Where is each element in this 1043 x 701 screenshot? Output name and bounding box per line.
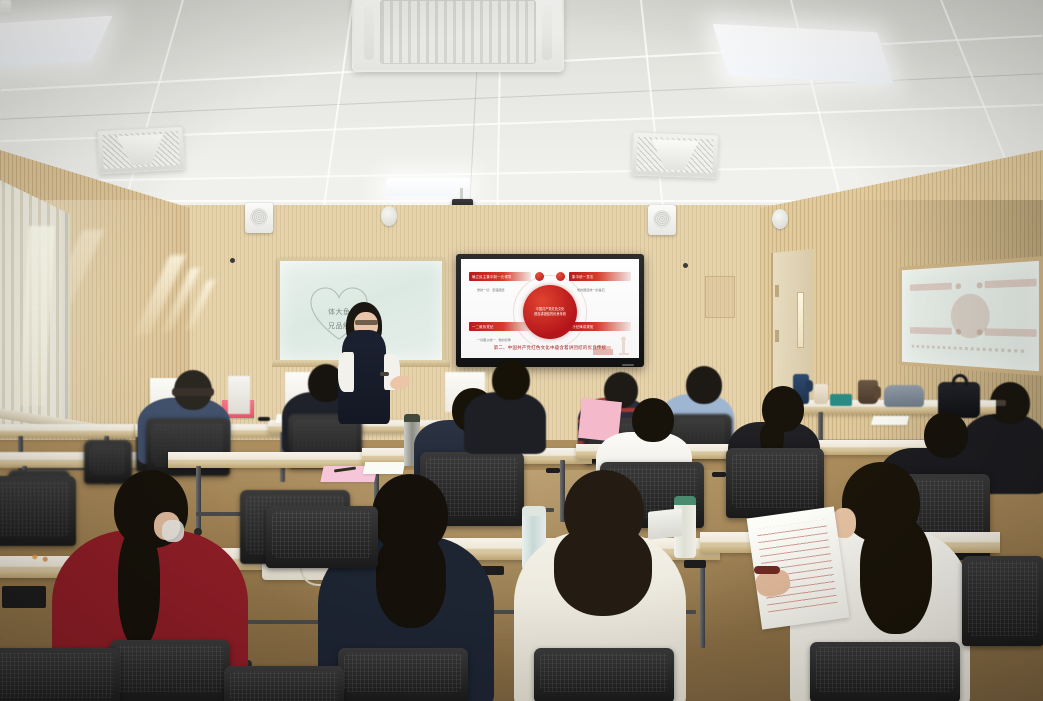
bracelet <box>754 566 780 574</box>
kettle-handle <box>806 380 813 392</box>
thermos-lid <box>404 414 420 422</box>
wristwatch <box>380 372 389 376</box>
mobile-phone[interactable] <box>684 560 706 568</box>
mobile-phone[interactable] <box>546 468 560 473</box>
wall-access-panel <box>705 276 735 318</box>
wall-sensor-icon <box>230 258 235 263</box>
slide-sub-1: 党的一切 · 坚强团结 <box>477 287 505 292</box>
slide-bar-1: 确立民主集中制一元领导 <box>469 272 531 281</box>
mesh-office-chair[interactable] <box>266 506 378 568</box>
wall-sensor-icon <box>683 263 688 268</box>
mesh-office-chair[interactable] <box>0 648 120 701</box>
projected-bar-2 <box>910 327 952 335</box>
mesh-office-chair[interactable] <box>338 648 468 701</box>
eyeglasses-icon <box>355 320 378 325</box>
ceiling-light-center <box>383 178 470 196</box>
tablet-device[interactable] <box>2 586 46 608</box>
slide-bar-4: 守纪律讲规矩 <box>569 322 631 331</box>
slide-dot-3 <box>556 272 565 281</box>
desk-partition <box>228 376 250 414</box>
ceiling-vent-right <box>631 132 718 179</box>
ceiling-speaker-icon <box>381 206 397 226</box>
mesh-office-chair[interactable] <box>534 648 674 701</box>
printed-sheet <box>871 416 909 425</box>
grey-handbag[interactable] <box>884 385 924 407</box>
door-window <box>797 292 804 348</box>
projected-bar-1 <box>910 283 952 291</box>
mesh-office-chair[interactable] <box>110 640 230 701</box>
mesh-office-chair[interactable] <box>726 448 824 518</box>
slide-dot-1 <box>535 272 544 281</box>
mesh-office-chair[interactable] <box>84 440 132 484</box>
projected-footer <box>912 345 1026 353</box>
mesh-office-chair[interactable] <box>810 642 960 701</box>
mobile-phone[interactable] <box>712 472 726 477</box>
slide-footer-text: 第二、中国共产党红色文化中蕴含着讲团结的优良传统 <box>461 345 639 351</box>
paper-cup <box>0 0 11 15</box>
wall-speaker-icon <box>245 203 273 233</box>
projected-bar-4 <box>985 328 1037 337</box>
mesh-office-chair[interactable] <box>962 556 1043 646</box>
slide-bar-3: 集中统一意志 <box>569 272 631 281</box>
laptop-screen[interactable] <box>648 508 682 540</box>
ceiling-vent-left <box>97 126 185 174</box>
green-box <box>830 394 852 406</box>
wall-speaker-icon <box>648 205 676 235</box>
mesh-office-chair[interactable] <box>224 666 344 701</box>
slide-center-circle: 中国共产党红色文化 蕴含讲团结的优良传统 <box>523 285 577 339</box>
cup-graphic <box>27 552 53 564</box>
bottle-lid <box>674 496 696 505</box>
snack-pack <box>814 384 828 404</box>
mobile-phone[interactable] <box>258 417 270 421</box>
slide-bar-2: 一二维系党纪 <box>469 322 531 331</box>
slide-screen: 确立民主集中制一元领导 党的一切 · 坚强团结 一二维系党纪 一切服从统一 · … <box>461 259 639 358</box>
backpack-handle <box>952 374 968 386</box>
ceiling-speaker-icon <box>772 209 788 229</box>
air-conditioner-unit <box>352 0 564 72</box>
presenter-blouse-sleeve <box>338 352 354 392</box>
projected-slide-board <box>899 256 1043 376</box>
ceiling-light-right <box>712 24 893 84</box>
slide-center-line2: 蕴含讲团结的优良传统 <box>534 312 566 317</box>
slide-sub-2: 一切服从统一 · 党的纪律 <box>477 337 511 342</box>
classroom-scene: 体大鱼祝 兄品解谜 确立民主集中制一元领导 党的一切 · 坚强团结 一二维系党纪… <box>0 0 1043 701</box>
display-brand-logo <box>622 364 634 366</box>
face-mask <box>162 520 184 542</box>
slide-sub-3: 党的团结统一的基石 <box>577 287 605 292</box>
eyeglasses-icon <box>172 388 214 396</box>
mesh-office-chair[interactable] <box>0 476 76 546</box>
interactive-display[interactable]: 确立民主集中制一元领导 党的一切 · 坚强团结 一二维系党纪 一切服从统一 · … <box>456 254 644 367</box>
projected-bar-3 <box>985 279 1037 289</box>
white-handout <box>363 462 406 474</box>
